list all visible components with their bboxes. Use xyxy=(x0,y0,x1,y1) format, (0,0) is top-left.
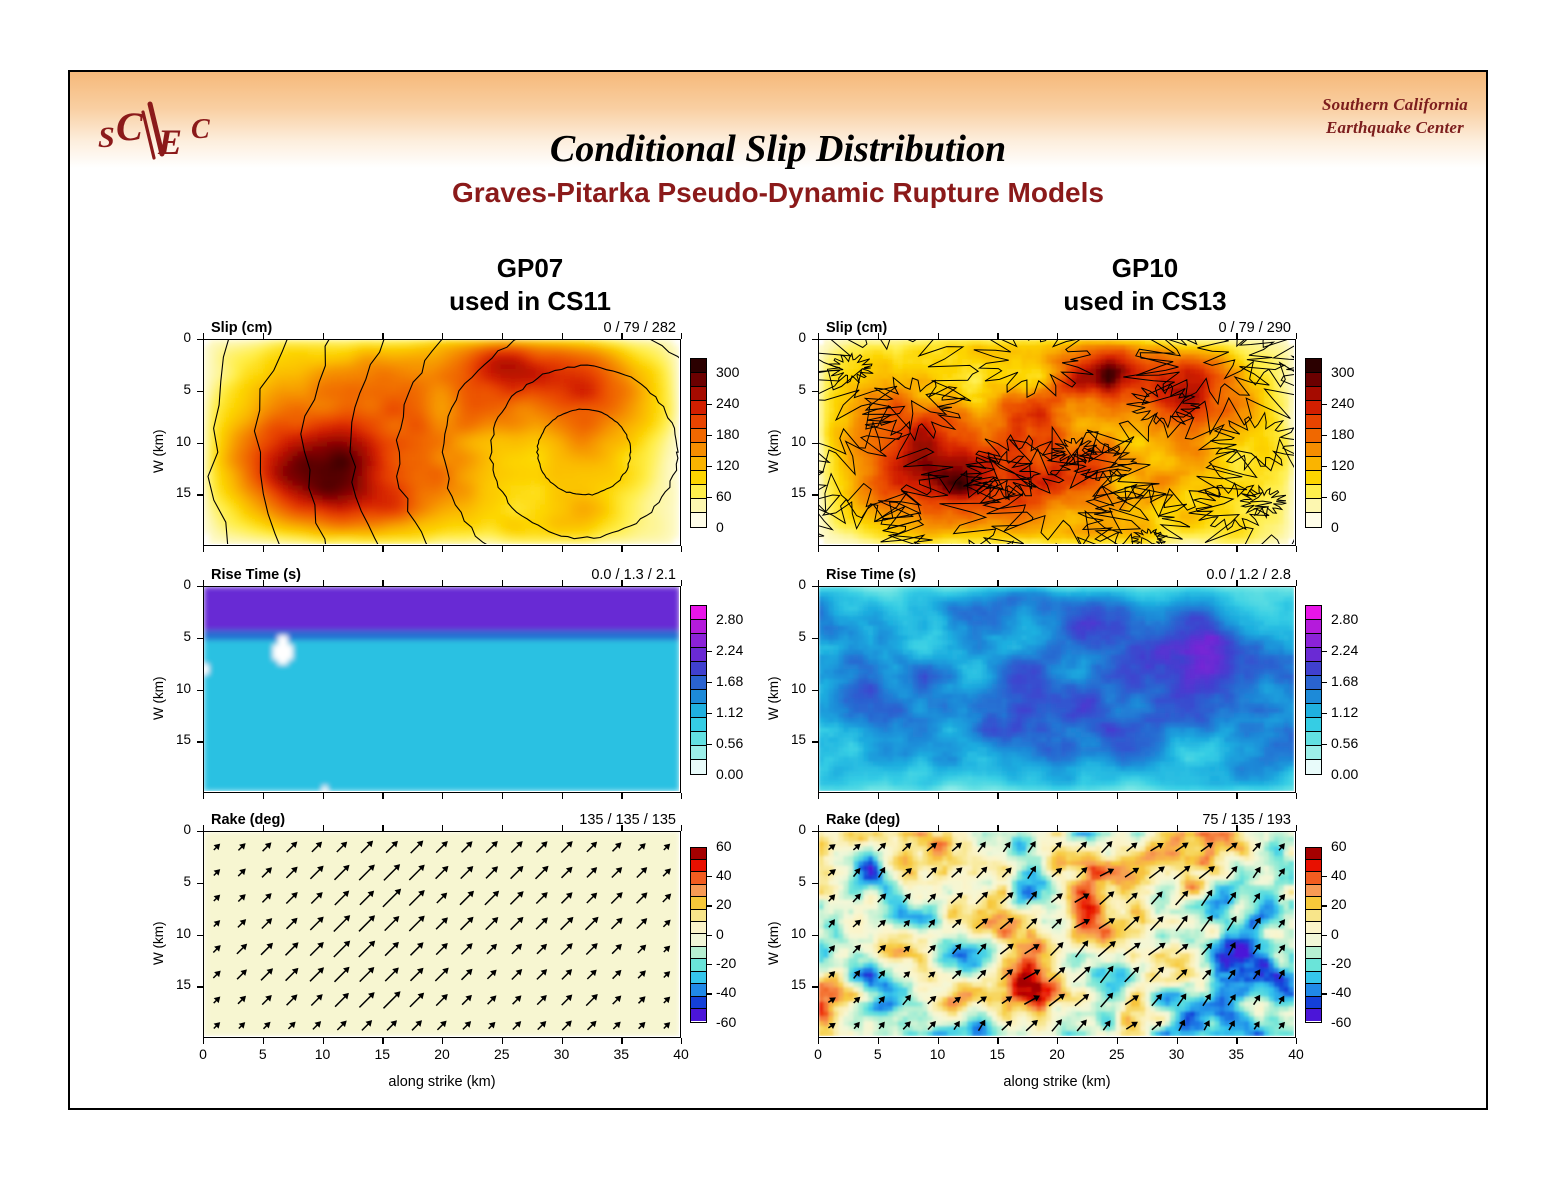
colorbar-rake-gp10-segment xyxy=(1306,997,1321,1009)
x-tickmark xyxy=(502,793,503,799)
y-tickmark xyxy=(812,443,818,444)
x-tickmark xyxy=(502,580,503,586)
x-tickmark xyxy=(1296,793,1297,799)
x-tickmark xyxy=(1236,825,1237,831)
x-tickmark xyxy=(442,333,443,339)
x-tickmark xyxy=(502,825,503,831)
colorbar-rake-gp07-label: -60 xyxy=(716,1014,736,1030)
y-tick-label: 5 xyxy=(165,874,191,889)
colorbar-rake-gp07-segment xyxy=(691,959,706,971)
colorbar-slip-gp10-label: 300 xyxy=(1331,364,1354,380)
colorbar-rise-gp07-label: 0.00 xyxy=(716,766,743,782)
x-tickmark xyxy=(681,825,682,831)
colorbar-rake-gp10-label: 60 xyxy=(1331,838,1347,854)
x-tick-label: 30 xyxy=(547,1046,577,1062)
colorbar-rake-gp07-segment xyxy=(691,972,706,984)
x-tickmark xyxy=(938,1038,939,1044)
colorbar-rake-gp10-segment xyxy=(1306,1009,1321,1021)
colorbar-rise-gp10-segment xyxy=(1306,620,1321,634)
x-tickmark xyxy=(263,333,264,339)
x-tickmark xyxy=(203,1038,204,1044)
colorbar-slip-gp07-label: 180 xyxy=(716,426,739,442)
x-tickmark xyxy=(263,825,264,831)
colorbar-rise-gp07-label: 2.80 xyxy=(716,611,743,627)
x-tickmark xyxy=(878,333,879,339)
y-axis-label-slip-gp10: W (km) xyxy=(766,429,781,472)
colorbar-rake-gp10-notch xyxy=(1322,905,1327,906)
colorbar-slip-gp07-segment xyxy=(691,499,706,513)
x-tickmark xyxy=(1117,793,1118,799)
x-tickmark xyxy=(263,580,264,586)
y-tick-label: 5 xyxy=(780,382,806,397)
colorbar-rake-gp10-segment xyxy=(1306,947,1321,959)
slide-page: S C E C Southern California Earthquake C… xyxy=(0,0,1552,1199)
colorbar-slip-gp10-segment xyxy=(1306,443,1321,457)
colorbar-rise-gp10-notch xyxy=(1322,744,1327,745)
x-tickmark xyxy=(382,546,383,552)
x-tickmark xyxy=(562,333,563,339)
colorbar-rise-gp10 xyxy=(1305,605,1322,775)
x-tickmark xyxy=(263,1038,264,1044)
y-tickmark xyxy=(812,339,818,340)
x-tickmark xyxy=(1296,1038,1297,1044)
x-tickmark xyxy=(681,333,682,339)
colorbar-rise-gp10-segment xyxy=(1306,634,1321,648)
x-tickmark xyxy=(442,1038,443,1044)
y-tick-label: 15 xyxy=(165,977,191,992)
colorbar-rake-gp10-segment xyxy=(1306,959,1321,971)
colorbar-rise-gp10-label: 0.00 xyxy=(1331,766,1358,782)
org-line-1: Southern California xyxy=(1322,94,1468,117)
y-tick-label: 10 xyxy=(165,434,191,449)
colorbar-slip-gp10 xyxy=(1305,358,1322,528)
x-tickmark xyxy=(382,580,383,586)
x-tickmark xyxy=(621,580,622,586)
colorbar-rake-gp07-segment xyxy=(691,910,706,922)
colorbar-slip-gp07-segment xyxy=(691,429,706,443)
x-tickmark xyxy=(1236,333,1237,339)
x-tickmark xyxy=(1236,546,1237,552)
column-heading-gp07-line1: GP07 xyxy=(360,252,700,285)
x-tickmark xyxy=(681,546,682,552)
x-tickmark xyxy=(382,333,383,339)
x-axis-label-gp07: along strike (km) xyxy=(203,1074,681,1090)
x-tickmark xyxy=(818,333,819,339)
colorbar-rake-gp07-segment xyxy=(691,997,706,1009)
x-tickmark xyxy=(1236,793,1237,799)
x-tickmark xyxy=(562,546,563,552)
plot-slip-gp10 xyxy=(818,339,1296,546)
colorbar-rake-gp07-segment xyxy=(691,848,706,860)
x-tickmark xyxy=(1296,546,1297,552)
panel-stats-rise-gp10: 0.0 / 1.2 / 2.8 xyxy=(1136,567,1291,583)
x-tickmark xyxy=(203,333,204,339)
x-tickmark xyxy=(442,825,443,831)
colorbar-slip-gp07-segment xyxy=(691,415,706,429)
x-tickmark xyxy=(1057,546,1058,552)
y-tickmark xyxy=(812,586,818,587)
colorbar-rise-gp10-label: 0.56 xyxy=(1331,735,1358,751)
column-heading-gp07-line2: used in CS11 xyxy=(360,285,700,318)
colorbar-slip-gp07-segment xyxy=(691,387,706,401)
rake-field-gp07 xyxy=(204,832,679,1036)
y-tickmark xyxy=(812,935,818,936)
colorbar-slip-gp10-segment xyxy=(1306,499,1321,513)
x-tickmark xyxy=(562,825,563,831)
colorbar-rake-gp07-notch xyxy=(707,905,712,906)
colorbar-slip-gp07-segment xyxy=(691,401,706,415)
colorbar-rake-gp07-segment xyxy=(691,897,706,909)
colorbar-slip-gp10-notch xyxy=(1322,404,1327,405)
colorbar-rise-gp10-segment xyxy=(1306,704,1321,718)
colorbar-slip-gp07-segment xyxy=(691,373,706,387)
colorbar-rake-gp07-segment xyxy=(691,872,706,884)
colorbar-slip-gp07-label: 60 xyxy=(716,488,732,504)
x-tickmark xyxy=(1177,580,1178,586)
colorbar-rake-gp07-notch xyxy=(707,993,712,994)
y-axis-label-rise-gp10: W (km) xyxy=(766,676,781,719)
colorbar-rise-gp10-label: 2.24 xyxy=(1331,642,1358,658)
x-tickmark xyxy=(621,793,622,799)
x-tickmark xyxy=(621,333,622,339)
y-tick-label: 15 xyxy=(780,485,806,500)
colorbar-rake-gp07-label: 60 xyxy=(716,838,732,854)
y-axis-label-rake-gp10: W (km) xyxy=(766,921,781,964)
x-tickmark xyxy=(938,580,939,586)
colorbar-slip-gp07-label: 240 xyxy=(716,395,739,411)
colorbar-rake-gp07-segment xyxy=(691,984,706,996)
y-tickmark xyxy=(812,494,818,495)
colorbar-rake-gp07-segment xyxy=(691,934,706,946)
column-heading-gp10-line1: GP10 xyxy=(975,252,1315,285)
x-tickmark xyxy=(878,825,879,831)
x-tickmark xyxy=(323,546,324,552)
y-tickmark xyxy=(197,391,203,392)
x-tickmark xyxy=(997,1038,998,1044)
colorbar-rake-gp07-segment xyxy=(691,860,706,872)
x-tickmark xyxy=(382,793,383,799)
colorbar-rise-gp10-notch xyxy=(1322,713,1327,714)
y-tick-label: 15 xyxy=(780,977,806,992)
slip-field-gp07 xyxy=(204,340,679,544)
y-tickmark xyxy=(812,986,818,987)
colorbar-rise-gp10-segment xyxy=(1306,718,1321,732)
colorbar-slip-gp07-label: 120 xyxy=(716,457,739,473)
colorbar-rake-gp10-segment xyxy=(1306,860,1321,872)
colorbar-rise-gp07-segment xyxy=(691,620,706,634)
x-tick-label: 0 xyxy=(188,1046,218,1062)
colorbar-rise-gp10-segment xyxy=(1306,732,1321,746)
x-tickmark xyxy=(203,793,204,799)
x-tickmark xyxy=(1057,825,1058,831)
y-tick-label: 0 xyxy=(165,330,191,345)
x-tickmark xyxy=(502,546,503,552)
panel-stats-rake-gp10: 75 / 135 / 193 xyxy=(1136,812,1291,828)
plot-rake-gp07 xyxy=(203,831,681,1038)
x-tickmark xyxy=(562,1038,563,1044)
y-tick-label: 15 xyxy=(165,485,191,500)
colorbar-rise-gp07-label: 2.24 xyxy=(716,642,743,658)
colorbar-rise-gp10-segment xyxy=(1306,690,1321,704)
rake-field-gp10 xyxy=(819,832,1294,1036)
slide-title: Conditional Slip Distribution xyxy=(70,127,1486,171)
x-tickmark xyxy=(938,546,939,552)
y-tick-label: 10 xyxy=(780,434,806,449)
colorbar-rake-gp10-label: 0 xyxy=(1331,926,1339,942)
panel-stats-slip-gp10: 0 / 79 / 290 xyxy=(1136,320,1291,336)
x-tick-label: 10 xyxy=(308,1046,338,1062)
colorbar-rake-gp07-label: 0 xyxy=(716,926,724,942)
x-tickmark xyxy=(442,793,443,799)
y-tickmark xyxy=(197,339,203,340)
colorbar-rise-gp07-segment xyxy=(691,690,706,704)
x-tick-label: 0 xyxy=(803,1046,833,1062)
x-tick-label: 15 xyxy=(982,1046,1012,1062)
colorbar-slip-gp10-segment xyxy=(1306,387,1321,401)
colorbar-rake-gp10-label: -60 xyxy=(1331,1014,1351,1030)
x-tickmark xyxy=(997,825,998,831)
x-tickmark xyxy=(1057,333,1058,339)
plot-slip-gp07 xyxy=(203,339,681,546)
colorbar-slip-gp07-segment xyxy=(691,457,706,471)
x-tickmark xyxy=(997,546,998,552)
y-tickmark xyxy=(812,638,818,639)
y-tick-label: 5 xyxy=(165,629,191,644)
colorbar-rise-gp07-segment xyxy=(691,746,706,760)
x-tickmark xyxy=(323,580,324,586)
colorbar-rake-gp10-label: -40 xyxy=(1331,984,1351,1000)
colorbar-slip-gp07-segment xyxy=(691,485,706,499)
x-tickmark xyxy=(1117,580,1118,586)
y-tick-label: 10 xyxy=(780,926,806,941)
y-tickmark xyxy=(812,690,818,691)
y-tickmark xyxy=(197,638,203,639)
x-tickmark xyxy=(562,793,563,799)
colorbar-rise-gp07-segment xyxy=(691,606,706,620)
colorbar-rake-gp10-notch xyxy=(1322,935,1327,936)
x-tickmark xyxy=(818,546,819,552)
colorbar-rake-gp10-label: -20 xyxy=(1331,955,1351,971)
colorbar-rise-gp07-segment xyxy=(691,648,706,662)
x-tickmark xyxy=(621,546,622,552)
panel-title-rake-gp10: Rake (deg) xyxy=(826,812,900,828)
colorbar-rise-gp10-label: 1.68 xyxy=(1331,673,1358,689)
column-heading-gp10-line2: used in CS13 xyxy=(975,285,1315,318)
x-tickmark xyxy=(1177,333,1178,339)
colorbar-rake-gp07 xyxy=(690,847,707,1023)
colorbar-rake-gp07-notch xyxy=(707,876,712,877)
x-axis-label-gp10: along strike (km) xyxy=(818,1074,1296,1090)
x-tick-label: 40 xyxy=(666,1046,696,1062)
x-tickmark xyxy=(1296,825,1297,831)
x-tickmark xyxy=(1236,1038,1237,1044)
colorbar-slip-gp07-segment xyxy=(691,359,706,373)
plot-rake-gp10 xyxy=(818,831,1296,1038)
y-tickmark xyxy=(812,883,818,884)
y-tick-label: 10 xyxy=(165,926,191,941)
colorbar-rake-gp10-notch xyxy=(1322,964,1327,965)
y-tick-label: 5 xyxy=(780,629,806,644)
colorbar-slip-gp10-segment xyxy=(1306,359,1321,373)
x-tickmark xyxy=(818,1038,819,1044)
plot-rise-gp07 xyxy=(203,586,681,793)
colorbar-slip-gp07-notch xyxy=(707,435,712,436)
colorbar-rake-gp10-segment xyxy=(1306,848,1321,860)
x-tickmark xyxy=(442,546,443,552)
colorbar-rake-gp10-segment xyxy=(1306,872,1321,884)
x-tickmark xyxy=(878,793,879,799)
x-tick-label: 20 xyxy=(1042,1046,1072,1062)
slide-frame: S C E C Southern California Earthquake C… xyxy=(68,70,1488,1110)
y-tickmark xyxy=(812,831,818,832)
colorbar-rake-gp10-segment xyxy=(1306,984,1321,996)
x-tickmark xyxy=(1177,546,1178,552)
colorbar-rise-gp07-label: 1.12 xyxy=(716,704,743,720)
y-tickmark xyxy=(197,986,203,987)
x-tick-label: 5 xyxy=(863,1046,893,1062)
x-tickmark xyxy=(203,580,204,586)
colorbar-rake-gp07-segment xyxy=(691,947,706,959)
colorbar-rise-gp10-label: 2.80 xyxy=(1331,611,1358,627)
x-tickmark xyxy=(203,825,204,831)
y-tick-label: 0 xyxy=(165,822,191,837)
colorbar-slip-gp10-segment xyxy=(1306,457,1321,471)
colorbar-slip-gp07 xyxy=(690,358,707,528)
x-tickmark xyxy=(323,1038,324,1044)
x-tickmark xyxy=(1236,580,1237,586)
y-tick-label: 5 xyxy=(780,874,806,889)
colorbar-rise-gp10-notch xyxy=(1322,651,1327,652)
panel-title-rise-gp10: Rise Time (s) xyxy=(826,567,916,583)
y-tick-label: 0 xyxy=(780,577,806,592)
colorbar-rise-gp10-segment xyxy=(1306,606,1321,620)
colorbar-slip-gp10-label: 0 xyxy=(1331,519,1339,535)
colorbar-slip-gp10-notch xyxy=(1322,497,1327,498)
colorbar-rake-gp07-label: 20 xyxy=(716,896,732,912)
y-tickmark xyxy=(197,831,203,832)
x-tickmark xyxy=(818,580,819,586)
colorbar-slip-gp10-label: 60 xyxy=(1331,488,1347,504)
x-tickmark xyxy=(818,793,819,799)
x-tick-label: 30 xyxy=(1162,1046,1192,1062)
rise-field-gp10 xyxy=(819,587,1294,791)
y-tickmark xyxy=(197,935,203,936)
x-tickmark xyxy=(938,825,939,831)
x-tickmark xyxy=(502,1038,503,1044)
x-tickmark xyxy=(562,580,563,586)
colorbar-slip-gp07-segment xyxy=(691,513,706,527)
x-tickmark xyxy=(203,546,204,552)
y-tick-label: 0 xyxy=(780,822,806,837)
x-tickmark xyxy=(1177,793,1178,799)
colorbar-rake-gp07-segment xyxy=(691,922,706,934)
y-tickmark xyxy=(812,741,818,742)
colorbar-slip-gp10-segment xyxy=(1306,485,1321,499)
colorbar-slip-gp10-segment xyxy=(1306,415,1321,429)
colorbar-rake-gp07-segment xyxy=(691,1009,706,1021)
y-tickmark xyxy=(812,391,818,392)
x-tickmark xyxy=(502,333,503,339)
colorbar-rise-gp10-segment xyxy=(1306,662,1321,676)
x-tickmark xyxy=(323,793,324,799)
panel-stats-rise-gp07: 0.0 / 1.3 / 2.1 xyxy=(521,567,676,583)
colorbar-rise-gp07-notch xyxy=(707,651,712,652)
colorbar-rake-gp07-segment xyxy=(691,885,706,897)
x-tick-label: 25 xyxy=(487,1046,517,1062)
colorbar-rise-gp07-segment xyxy=(691,676,706,690)
colorbar-slip-gp07-label: 300 xyxy=(716,364,739,380)
colorbar-slip-gp10-segment xyxy=(1306,471,1321,485)
x-tickmark xyxy=(263,793,264,799)
slip-field-gp10 xyxy=(819,340,1294,544)
x-tickmark xyxy=(323,333,324,339)
colorbar-rise-gp10-segment xyxy=(1306,648,1321,662)
colorbar-rake-gp07-notch xyxy=(707,935,712,936)
x-tick-label: 25 xyxy=(1102,1046,1132,1062)
x-tickmark xyxy=(621,1038,622,1044)
colorbar-slip-gp10-segment xyxy=(1306,429,1321,443)
y-axis-label-rake-gp07: W (km) xyxy=(151,921,166,964)
panel-title-rake-gp07: Rake (deg) xyxy=(211,812,285,828)
colorbar-rake-gp07-label: -20 xyxy=(716,955,736,971)
slide-subtitle: Graves-Pitarka Pseudo-Dynamic Rupture Mo… xyxy=(70,177,1486,209)
x-tick-label: 35 xyxy=(1221,1046,1251,1062)
colorbar-rake-gp07-label: 40 xyxy=(716,867,732,883)
x-tickmark xyxy=(263,546,264,552)
x-tickmark xyxy=(818,825,819,831)
x-tickmark xyxy=(1296,580,1297,586)
colorbar-slip-gp07-notch xyxy=(707,466,712,467)
plot-rise-gp10 xyxy=(818,586,1296,793)
colorbar-rise-gp07-label: 1.68 xyxy=(716,673,743,689)
colorbar-rake-gp10-segment xyxy=(1306,910,1321,922)
colorbar-slip-gp10-segment xyxy=(1306,513,1321,527)
y-tickmark xyxy=(197,443,203,444)
colorbar-rake-gp07-label: -40 xyxy=(716,984,736,1000)
colorbar-rise-gp10-notch xyxy=(1322,682,1327,683)
colorbar-slip-gp07-segment xyxy=(691,471,706,485)
colorbar-rise-gp07-notch xyxy=(707,713,712,714)
x-tick-label: 10 xyxy=(923,1046,953,1062)
colorbar-slip-gp07-label: 0 xyxy=(716,519,724,535)
colorbar-rise-gp07-segment xyxy=(691,704,706,718)
colorbar-rise-gp07-segment xyxy=(691,634,706,648)
colorbar-rise-gp07-segment xyxy=(691,760,706,774)
colorbar-rise-gp10-label: 1.12 xyxy=(1331,704,1358,720)
x-tickmark xyxy=(681,793,682,799)
colorbar-rake-gp10 xyxy=(1305,847,1322,1023)
x-tickmark xyxy=(938,793,939,799)
x-tickmark xyxy=(1117,1038,1118,1044)
x-tickmark xyxy=(382,825,383,831)
y-tick-label: 5 xyxy=(165,382,191,397)
colorbar-rise-gp10-segment xyxy=(1306,746,1321,760)
colorbar-rise-gp07-label: 0.56 xyxy=(716,735,743,751)
x-tickmark xyxy=(1057,580,1058,586)
y-axis-label-slip-gp07: W (km) xyxy=(151,429,166,472)
colorbar-slip-gp10-segment xyxy=(1306,373,1321,387)
y-tick-label: 10 xyxy=(780,681,806,696)
panel-stats-slip-gp07: 0 / 79 / 282 xyxy=(521,320,676,336)
x-tick-label: 35 xyxy=(606,1046,636,1062)
x-tickmark xyxy=(1117,546,1118,552)
x-tickmark xyxy=(681,580,682,586)
x-tickmark xyxy=(938,333,939,339)
y-axis-label-rise-gp07: W (km) xyxy=(151,676,166,719)
colorbar-rise-gp07-segment xyxy=(691,732,706,746)
y-tickmark xyxy=(197,586,203,587)
colorbar-rake-gp10-label: 40 xyxy=(1331,867,1347,883)
